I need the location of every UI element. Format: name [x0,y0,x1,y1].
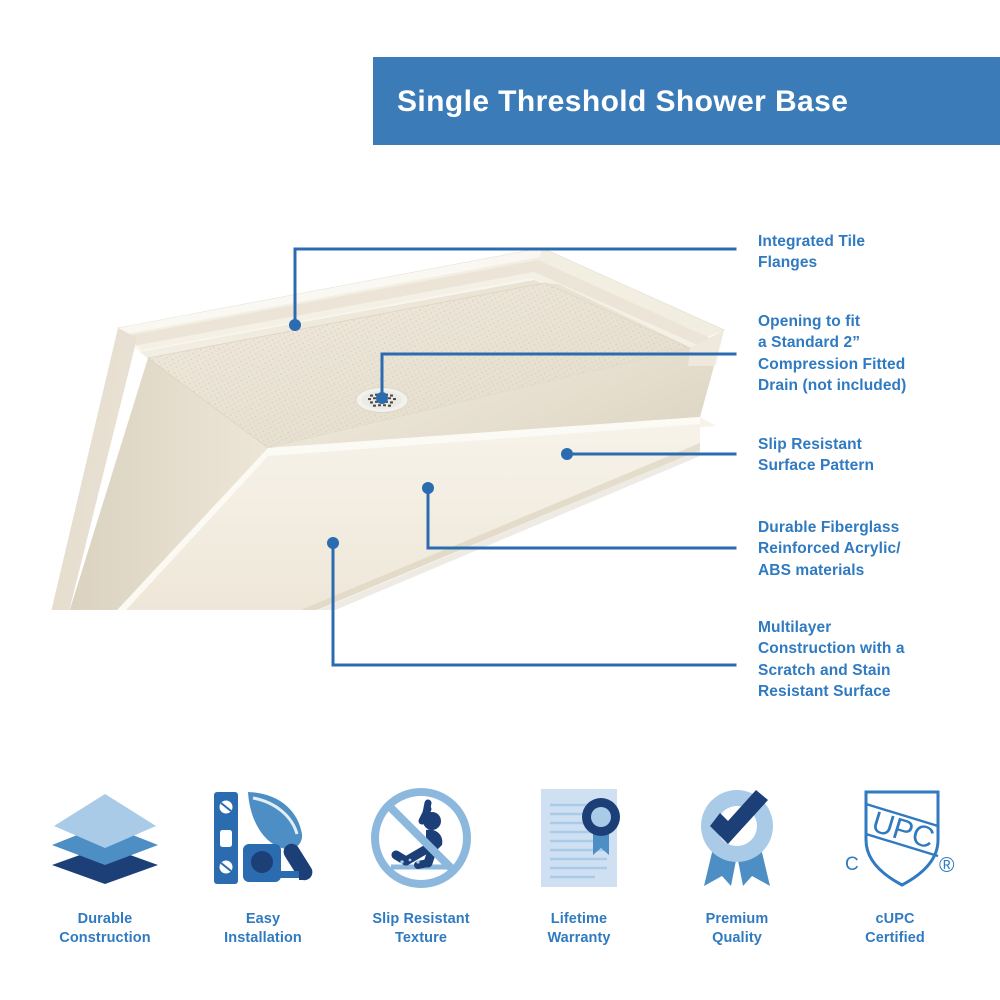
feature-easy-installation: Easy Installation [188,778,338,949]
level-trowel-icon [193,778,333,898]
callout-multilayer-construction: Multilayer Construction with a Scratch a… [758,617,998,703]
feature-label: Premium Quality [706,910,769,949]
feature-slip-resistant-texture: Slip Resistant Texture [346,778,496,949]
callout-slip-resistant-surface-pattern: Slip Resistant Surface Pattern [758,434,996,477]
drain-grate [356,388,408,413]
feature-label: Easy Installation [224,910,302,949]
page-title: Single Threshold Shower Base [397,85,848,118]
feature-durable-construction: Durable Construction [30,778,180,949]
feature-label: Slip Resistant Texture [372,910,469,949]
cupc-registered-mark: ® [939,854,955,877]
no-slip-icon [351,778,491,898]
callout-durable-fiberglass: Durable Fiberglass Reinforced Acrylic/ A… [758,517,998,581]
title-banner: Single Threshold Shower Base [373,57,1000,145]
feature-lifetime-warranty: Lifetime Warranty [504,778,654,949]
feature-label: Lifetime Warranty [547,910,610,949]
certificate-icon [509,778,649,898]
infographic-stage: Single Threshold Shower Base [0,0,1000,1000]
cupc-left-mark: C [845,854,859,875]
feature-premium-quality: Premium Quality [662,778,812,949]
feature-label: Durable Construction [59,910,150,949]
checkmark-rosette-icon [667,778,807,898]
callout-drain-opening: Opening to fit a Standard 2” Compression… [758,311,1000,397]
upc-shield-icon: UPC C ® [825,778,965,898]
callout-integrated-tile-flanges: Integrated Tile Flanges [758,231,996,274]
feature-cupc-certified: UPC C ® cUPC Certified [820,778,970,949]
feature-badges-row: Durable Construction [0,778,1000,978]
layers-icon [35,778,175,898]
product-image [0,180,760,610]
feature-label: cUPC Certified [865,910,925,949]
upc-shield-text: UPC [868,806,938,856]
